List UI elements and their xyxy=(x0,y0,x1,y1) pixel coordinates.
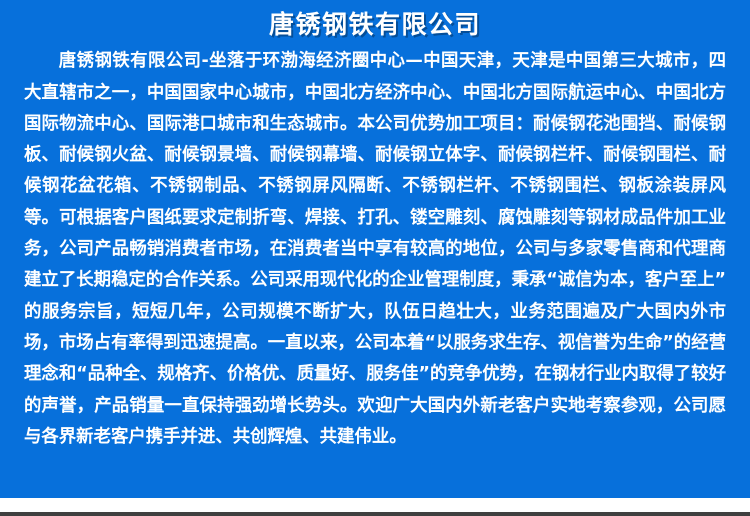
company-title: 唐锈钢铁有限公司 xyxy=(0,0,750,46)
company-description-text: 唐锈钢铁有限公司-坐落于环渤海经济圈中心—中国天津，天津是中国第三大城市，四大直… xyxy=(0,46,750,453)
bottom-divider-rule xyxy=(0,512,750,516)
blue-content-panel: 唐锈钢铁有限公司 唐锈钢铁有限公司-坐落于环渤海经济圈中心—中国天津，天津是中国… xyxy=(0,0,750,498)
company-profile-banner: 唐锈钢铁有限公司 唐锈钢铁有限公司-坐落于环渤海经济圈中心—中国天津，天津是中国… xyxy=(0,0,750,516)
bottom-white-strip xyxy=(0,498,750,512)
